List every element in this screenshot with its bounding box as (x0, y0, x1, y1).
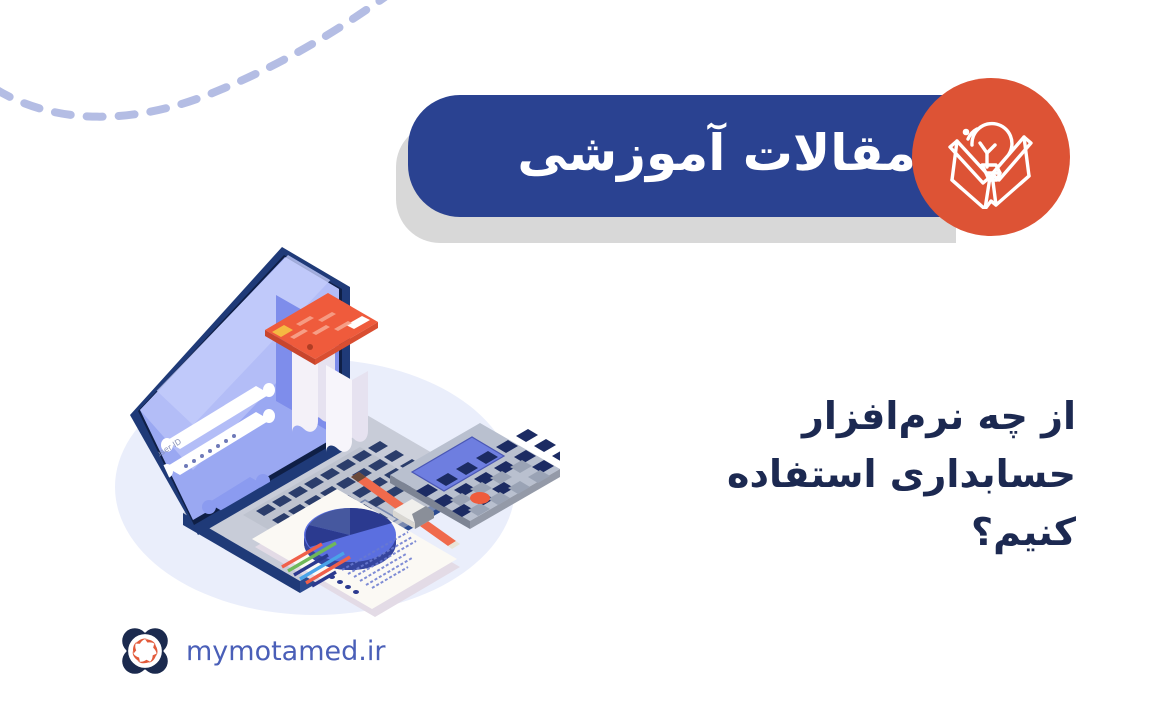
page-title: از چه نرم‌افزار حسابداری استفاده کنیم؟ (646, 388, 1076, 561)
banner-badge (912, 78, 1070, 236)
headline-line-1: از چه نرم‌افزار (646, 388, 1076, 446)
banner-title: مقالات آموزشی (517, 128, 946, 184)
mymotamed-clover-swirl-logo-icon (118, 624, 172, 678)
poster-canvas: user ID (0, 0, 1164, 724)
illustration-isometric-laptop-accounting: user ID (60, 225, 560, 625)
headline-line-2: حسابداری استفاده (646, 446, 1076, 504)
site-logo[interactable]: mymotamed.ir (118, 624, 385, 678)
articles-banner[interactable]: مقالات آموزشی (408, 95, 968, 240)
logo-text: mymotamed.ir (186, 638, 385, 665)
book-lightbulb-icon (939, 105, 1043, 209)
headline-line-3: کنیم؟ (646, 504, 1076, 562)
banner-bar: مقالات آموزشی (408, 95, 968, 217)
dashed-arc-icon (0, 0, 410, 152)
